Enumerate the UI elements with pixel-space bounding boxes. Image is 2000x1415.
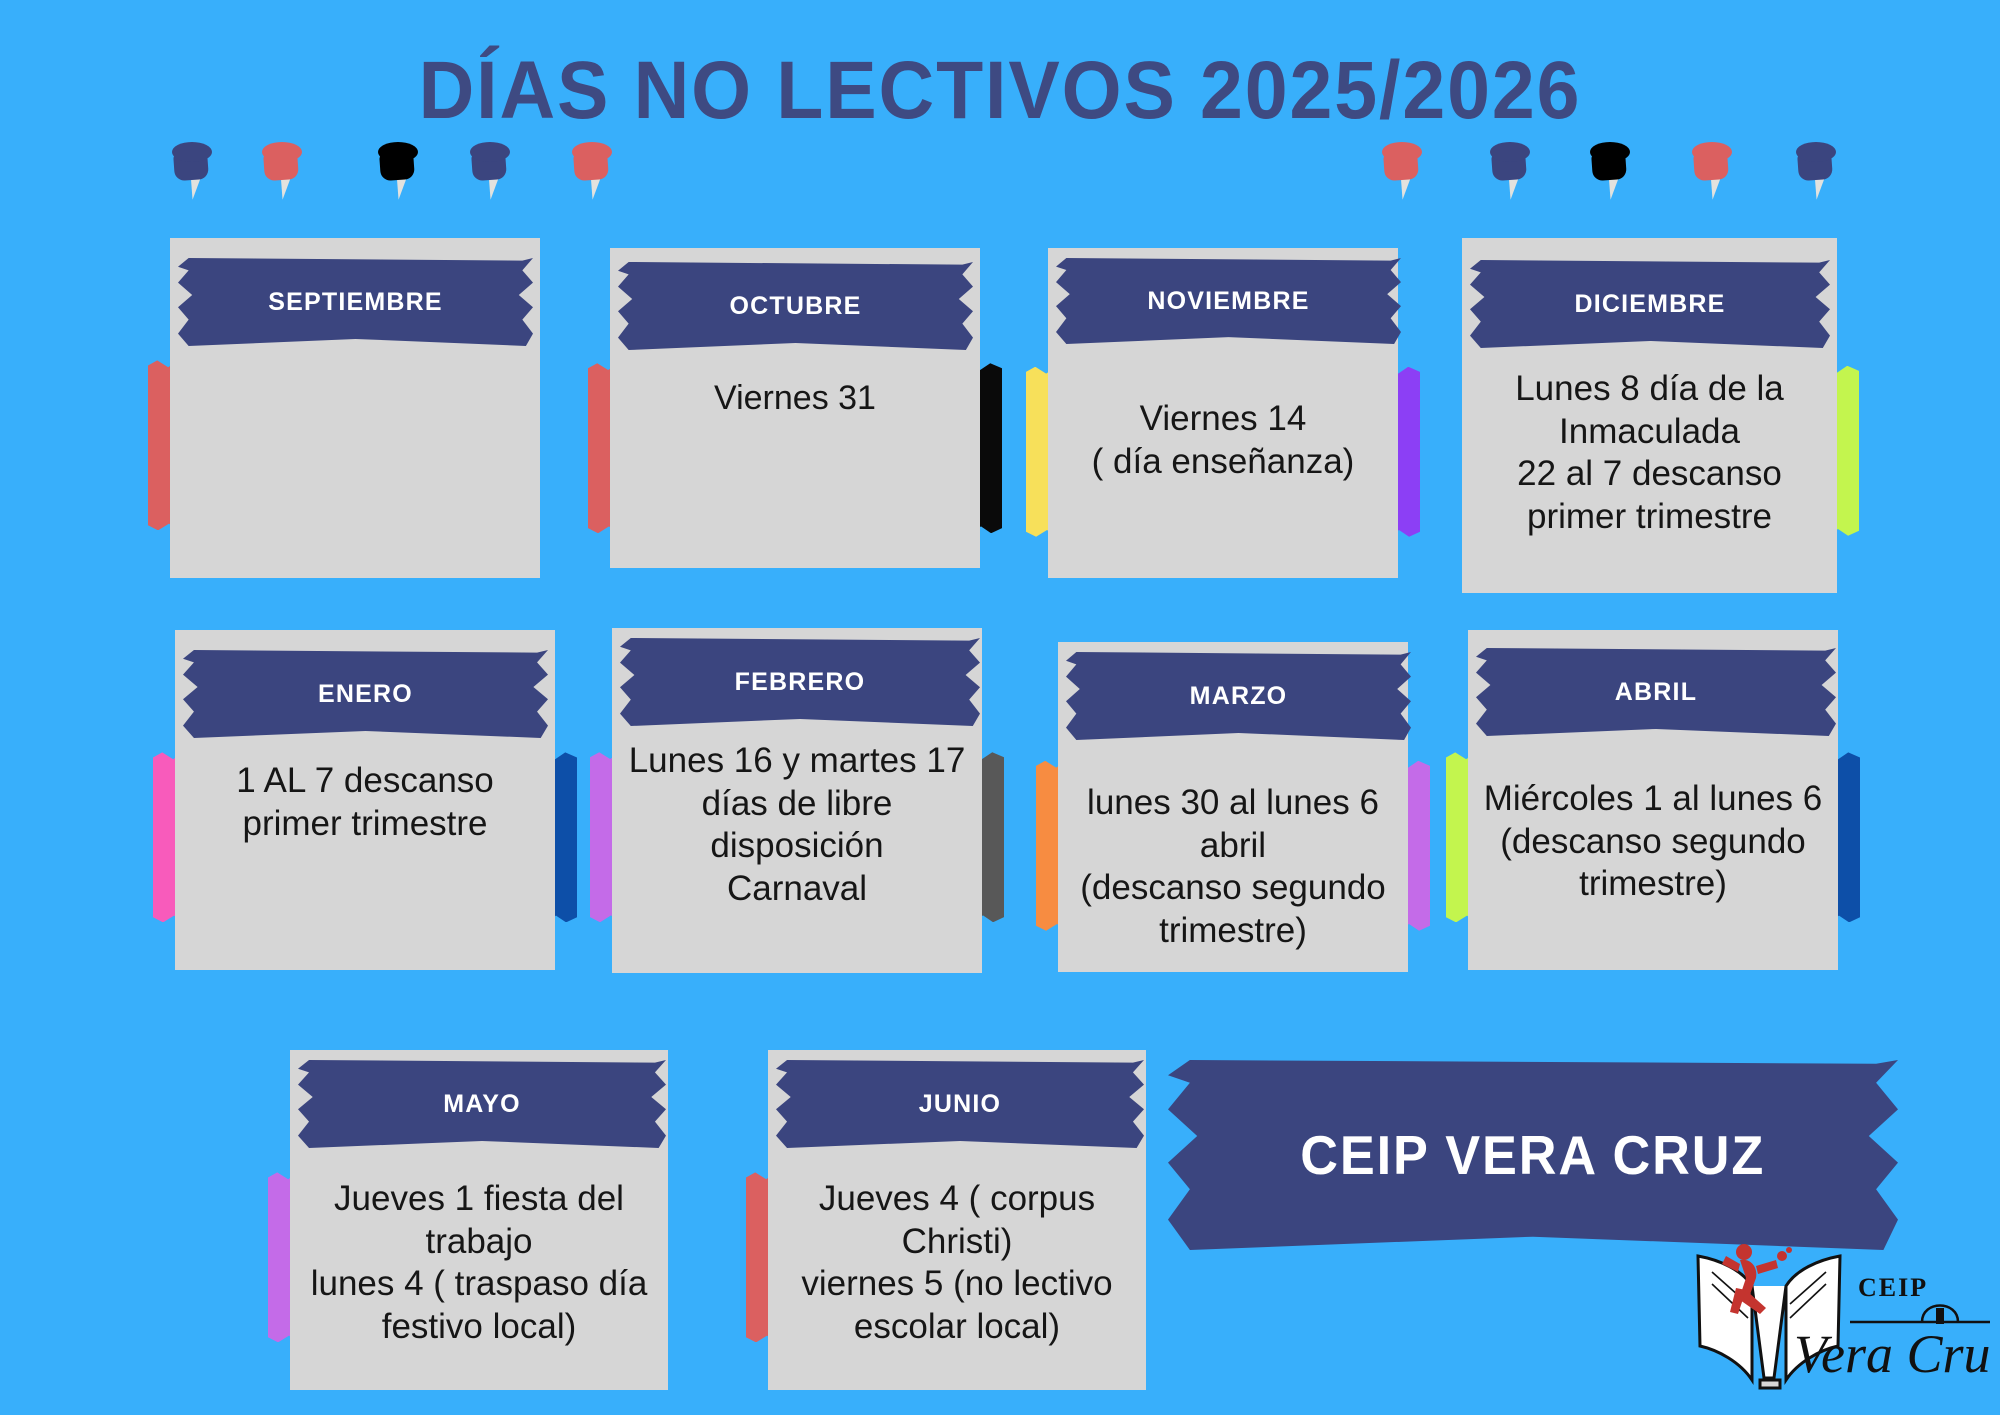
month-banner-marzo: MARZO: [1066, 652, 1411, 740]
pushpin-icon: [378, 138, 424, 200]
page-title: DÍAS NO LECTIVOS 2025/2026: [60, 44, 1940, 138]
school-logo: CEIP Vera Cruz: [1690, 1230, 1990, 1410]
month-label: MARZO: [1190, 682, 1288, 711]
month-body-abril: Miércoles 1 al lunes 6 (descanso segundo…: [1456, 778, 1851, 906]
pushpin-icon: [470, 138, 516, 200]
month-card-febrero[interactable]: FEBREROLunes 16 y martes 17 días de libr…: [612, 628, 982, 973]
month-body-mayo: Jueves 1 fiesta del trabajo lunes 4 ( tr…: [282, 1178, 677, 1349]
pushpin-icon: [1490, 138, 1536, 200]
logo-wordmark: [1850, 1306, 1990, 1325]
pushpin-icon: [262, 138, 308, 200]
pushpin-cap-icon: [1796, 142, 1836, 162]
pushpin-cap-icon: [378, 142, 418, 162]
month-banner-octubre: OCTUBRE: [618, 262, 973, 350]
month-label: FEBRERO: [735, 668, 866, 697]
pushpin-cap-icon: [262, 142, 302, 162]
pushpin-cap-icon: [1490, 142, 1530, 162]
pushpin-cap-icon: [1590, 142, 1630, 162]
month-body-enero: 1 AL 7 descanso primer trimestre: [175, 760, 555, 845]
school-name-label: CEIP VERA CRUZ: [1301, 1123, 1766, 1187]
month-card-mayo[interactable]: MAYOJueves 1 fiesta del trabajo lunes 4 …: [290, 1050, 668, 1390]
month-card-noviembre[interactable]: NOVIEMBREViernes 14 ( día enseñanza): [1048, 248, 1398, 578]
pushpin-cap-icon: [572, 142, 612, 162]
month-label: NOVIEMBRE: [1147, 287, 1309, 316]
month-card-abril[interactable]: ABRILMiércoles 1 al lunes 6 (descanso se…: [1468, 630, 1838, 970]
month-card-octubre[interactable]: OCTUBREViernes 31: [610, 248, 980, 568]
logo-wordmark-text: Vera Cruz: [1794, 1324, 1990, 1384]
pushpin-cap-icon: [172, 142, 212, 162]
month-body-junio: Jueves 4 ( corpus Christi) viernes 5 (no…: [768, 1178, 1146, 1349]
month-banner-abril: ABRIL: [1476, 648, 1836, 736]
month-banner-mayo: MAYO: [298, 1060, 666, 1148]
month-card-junio[interactable]: JUNIOJueves 4 ( corpus Christi) viernes …: [768, 1050, 1146, 1390]
month-label: MAYO: [443, 1090, 521, 1119]
pushpin-icon: [572, 138, 618, 200]
pushpin-icon: [1590, 138, 1636, 200]
month-body-diciembre: Lunes 8 día de la Inmaculada 22 al 7 des…: [1462, 368, 1837, 539]
month-label: ENERO: [318, 680, 413, 709]
month-label: DICIEMBRE: [1574, 290, 1725, 319]
pushpin-icon: [1692, 138, 1738, 200]
pushpin-cap-icon: [470, 142, 510, 162]
pushpin-icon: [1796, 138, 1842, 200]
month-card-diciembre[interactable]: DICIEMBRELunes 8 día de la Inmaculada 22…: [1462, 238, 1837, 593]
month-body-noviembre: Viernes 14 ( día enseñanza): [1048, 398, 1398, 483]
pushpin-cap-icon: [1382, 142, 1422, 162]
month-card-septiembre[interactable]: SEPTIEMBRE: [170, 238, 540, 578]
month-label: JUNIO: [919, 1090, 1001, 1119]
pushpin-icon: [1382, 138, 1428, 200]
month-label: OCTUBRE: [729, 292, 861, 321]
month-body-marzo: lunes 30 al lunes 6 abril (descanso segu…: [1048, 782, 1418, 953]
month-body-octubre: Viernes 31: [610, 378, 980, 419]
month-label: SEPTIEMBRE: [268, 288, 443, 317]
month-card-marzo[interactable]: MARZOlunes 30 al lunes 6 abril (descanso…: [1058, 642, 1408, 972]
month-banner-junio: JUNIO: [776, 1060, 1144, 1148]
month-banner-diciembre: DICIEMBRE: [1470, 260, 1830, 348]
month-banner-febrero: FEBRERO: [620, 638, 980, 726]
pushpin-cap-icon: [1692, 142, 1732, 162]
school-name-banner: CEIP VERA CRUZ: [1168, 1060, 1898, 1250]
month-label: ABRIL: [1615, 678, 1697, 707]
pushpin-icon: [172, 138, 218, 200]
logo-acronym: CEIP: [1858, 1273, 1928, 1302]
month-banner-noviembre: NOVIEMBRE: [1056, 258, 1401, 344]
month-body-febrero: Lunes 16 y martes 17 días de libre dispo…: [600, 740, 995, 911]
month-card-enero[interactable]: ENERO1 AL 7 descanso primer trimestre: [175, 630, 555, 970]
month-banner-septiembre: SEPTIEMBRE: [178, 258, 533, 346]
month-banner-enero: ENERO: [183, 650, 548, 738]
